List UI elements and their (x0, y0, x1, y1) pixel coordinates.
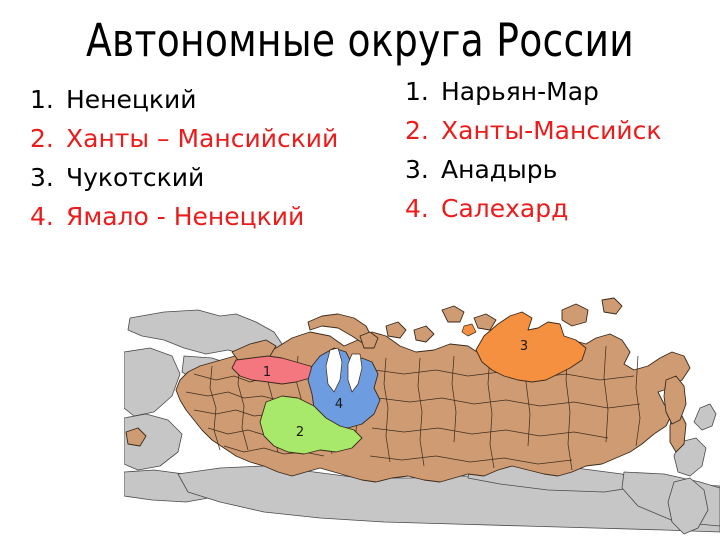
russia-map: 1 2 3 4 (124, 296, 720, 540)
list-item[interactable]: 3. Анадырь (405, 154, 715, 186)
map-region-label-4: 4 (335, 397, 343, 412)
map-region-label-1: 1 (263, 365, 271, 380)
list-item[interactable]: 2. Ханты-Мансийск (405, 115, 715, 147)
list-item-number: 3. (405, 154, 441, 186)
capital-cities-list: 1. Нарьян-Мар 2. Ханты-Мансийск 3. Анады… (405, 76, 715, 232)
list-item-label: Анадырь (441, 154, 715, 186)
list-item-label: Ямало - Ненецкий (66, 201, 370, 233)
list-item[interactable]: 4. Ямало - Ненецкий (30, 201, 370, 233)
list-item-label: Нарьян-Мар (441, 76, 715, 108)
list-item-label: Чукотский (66, 162, 370, 194)
russia-map-svg: 1 2 3 4 (124, 296, 720, 540)
map-region-label-3: 3 (520, 339, 528, 354)
list-item-number: 1. (405, 76, 441, 108)
list-item[interactable]: 3. Чукотский (30, 162, 370, 194)
list-item-number: 1. (30, 84, 66, 116)
list-item[interactable]: 2. Ханты – Мансийский (30, 123, 370, 155)
list-item-label: Ненецкий (66, 84, 370, 116)
list-item-number: 3. (30, 162, 66, 194)
list-item-number: 2. (30, 123, 66, 155)
list-item[interactable]: 1. Нарьян-Мар (405, 76, 715, 108)
list-item-label: Салехард (441, 193, 715, 225)
slide-canvas: Автономные округа России 1. Ненецкий 2. … (0, 0, 720, 540)
page-title: Автономные округа России (25, 16, 695, 66)
list-item-number: 4. (30, 201, 66, 233)
map-region-label-2: 2 (296, 425, 304, 440)
list-item[interactable]: 1. Ненецкий (30, 84, 370, 116)
list-item[interactable]: 4. Салехард (405, 193, 715, 225)
list-item-label: Ханты – Мансийский (66, 123, 370, 155)
list-item-label: Ханты-Мансийск (441, 115, 715, 147)
list-item-number: 4. (405, 193, 441, 225)
okrug-names-list: 1. Ненецкий 2. Ханты – Мансийский 3. Чук… (30, 84, 370, 240)
list-item-number: 2. (405, 115, 441, 147)
